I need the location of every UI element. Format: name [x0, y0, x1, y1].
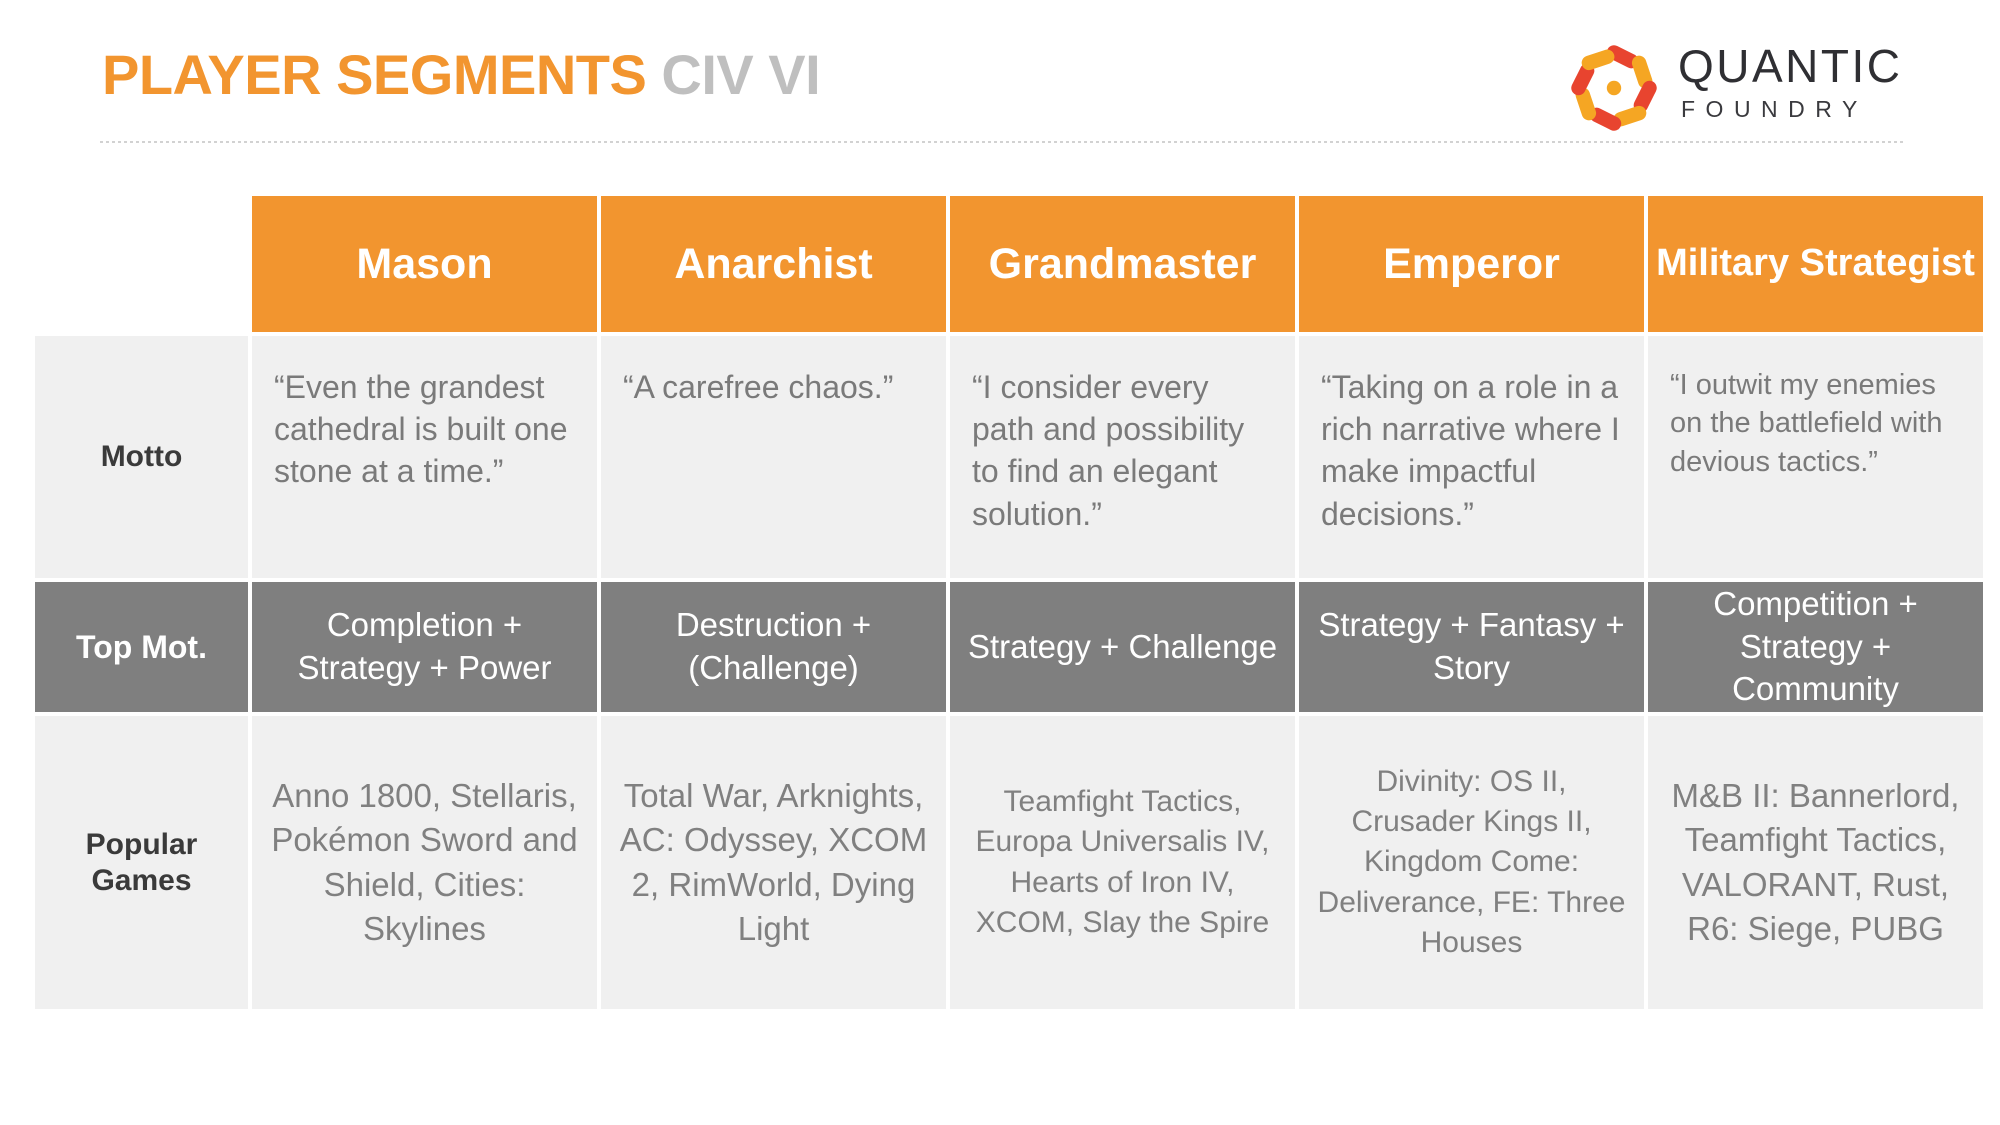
- column-header-grandmaster: Grandmaster: [950, 196, 1295, 332]
- row-label-top-motivations: Top Mot.: [35, 582, 248, 712]
- page-title-main: PLAYER SEGMENTS: [102, 43, 646, 106]
- page-title: PLAYER SEGMENTS CIV VI: [102, 47, 820, 103]
- motto-emperor: “Taking on a role in a rich narrative wh…: [1299, 336, 1644, 578]
- popular-games-military-strategist: M&B II: Bannerlord, Teamfight Tactics, V…: [1648, 716, 1983, 1009]
- player-segments-table: Mason Anarchist Grandmaster Emperor Mili…: [35, 196, 1983, 1053]
- slide-canvas: PLAYER SEGMENTS CIV VI: [0, 0, 2000, 1125]
- quantic-foundry-molecule-mark: [1566, 40, 1662, 136]
- column-header-mason: Mason: [252, 196, 597, 332]
- column-header-emperor: Emperor: [1299, 196, 1644, 332]
- top-motivations-mason: Completion + Strategy + Power: [252, 582, 597, 712]
- top-motivations-grandmaster: Strategy + Challenge: [950, 582, 1295, 712]
- top-motivations-emperor: Strategy + Fantasy + Story: [1299, 582, 1644, 712]
- top-motivations-military-strategist: Competition + Strategy + Community: [1648, 582, 1983, 712]
- motto-grandmaster: “I consider every path and possibility t…: [950, 336, 1295, 578]
- column-header-anarchist: Anarchist: [601, 196, 946, 332]
- logo-wordmark: QUANTIC FOUNDRY: [1678, 42, 1903, 123]
- logo-name-bottom: FOUNDRY: [1678, 96, 1903, 123]
- popular-games-grandmaster: Teamfight Tactics, Europa Universalis IV…: [950, 716, 1295, 1009]
- quantic-foundry-logo: QUANTIC FOUNDRY: [1566, 36, 1986, 141]
- motto-mason: “Even the grandest cathedral is built on…: [252, 336, 597, 578]
- logo-name-top: QUANTIC: [1678, 42, 1903, 90]
- table-corner-spacer: [35, 196, 248, 332]
- motto-anarchist: “A carefree chaos.”: [601, 336, 946, 578]
- column-header-military-strategist: Military Strategist: [1648, 196, 1983, 332]
- motto-military-strategist: “I outwit my enemies on the battlefield …: [1648, 336, 1983, 578]
- top-motivations-anarchist: Destruction + (Challenge): [601, 582, 946, 712]
- popular-games-mason: Anno 1800, Stellaris, Pokémon Sword and …: [252, 716, 597, 1009]
- slide-header: PLAYER SEGMENTS CIV VI: [0, 0, 2000, 150]
- page-title-sub: CIV VI: [661, 43, 820, 106]
- row-label-popular-games: Popular Games: [35, 716, 248, 1009]
- popular-games-anarchist: Total War, Arknights, AC: Odyssey, XCOM …: [601, 716, 946, 1009]
- popular-games-emperor: Divinity: OS II, Crusader Kings II, King…: [1299, 716, 1644, 1009]
- header-dotted-divider: [100, 141, 1904, 143]
- row-label-motto: Motto: [35, 336, 248, 578]
